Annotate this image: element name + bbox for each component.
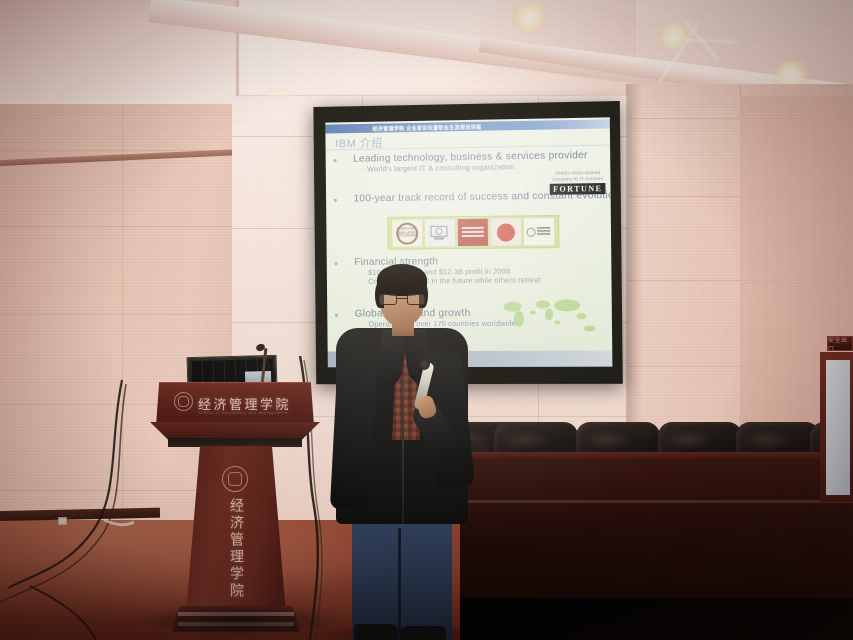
badge-line-2: Company #1 IT Services [550,176,605,183]
speaker-presenter [336,258,468,640]
conference-table-groove [452,500,853,503]
ibm-wordmark-logo-icon [458,219,488,246]
slide-header-bar: 经济管理学院 企业家论坛暨职业生涯规划讲座 [325,119,610,133]
conference-table [452,452,853,598]
speaker-trousers [352,516,452,640]
speaker-shoe-left [354,624,398,640]
podium-label-sub: School of Economics and Management [198,410,288,415]
ibm-e-mark [497,223,515,241]
glasses-lens-right [407,294,425,305]
fortune-badge: World's Most Admired Company #1 IT Servi… [550,170,606,195]
ctr-seal-logo-icon: COMPUTING TABULATING RECORDING [392,220,422,247]
wall-seam [122,104,123,524]
wall-seam [0,226,246,227]
fortune-wordmark: FORTUNE [550,183,605,195]
world-map-graphic [497,292,609,345]
jacket-zipper [402,378,404,523]
trouser-seam [398,528,401,640]
side-door-panel [826,360,850,495]
podium-label-vertical: 经济管理学院 [226,498,246,600]
podium-shadow [140,604,340,636]
university-crest-icon [222,466,248,492]
photo-scene: 经济管理学院 企业家论坛暨职业生涯规划讲座 IBM 介绍 Leading tec… [0,0,853,640]
console-light-panel [245,371,271,384]
ibm-striped-logo-icon [524,218,555,245]
ceiling-downlight [508,2,552,32]
speaker-glasses-icon [379,294,425,305]
conference-table-edge [452,452,853,459]
speaker-shoe-right [400,626,446,640]
ibm-logo-history-strip: COMPUTING TABULATING RECORDING [387,215,559,250]
lectern-podium: 经济管理学院 School of Economics and Managemen… [150,356,318,640]
podium-trim-band [168,438,302,447]
bullet-marker-icon [334,159,337,162]
glasses-bridge [397,298,407,299]
ctr-seal-ring: COMPUTING TABULATING RECORDING [396,222,418,244]
lens-flare-streak [686,39,736,43]
ibm-eight-bar-logo-icon [491,218,521,245]
glasses-lens-left [379,294,397,305]
ibm-globe-logo-icon [425,219,455,246]
crest-inner-mark [228,472,243,487]
university-crest-icon [174,392,193,411]
exit-sign: 安全出口 [827,336,853,351]
wall-seam [0,314,246,315]
wall-outlet [58,517,67,525]
speaker-arm-left [330,349,378,511]
bullet-marker-icon [334,199,337,202]
slide-header-text: 经济管理学院 企业家论坛暨职业生涯规划讲座 [325,119,610,133]
crest-inner-mark [178,396,189,407]
